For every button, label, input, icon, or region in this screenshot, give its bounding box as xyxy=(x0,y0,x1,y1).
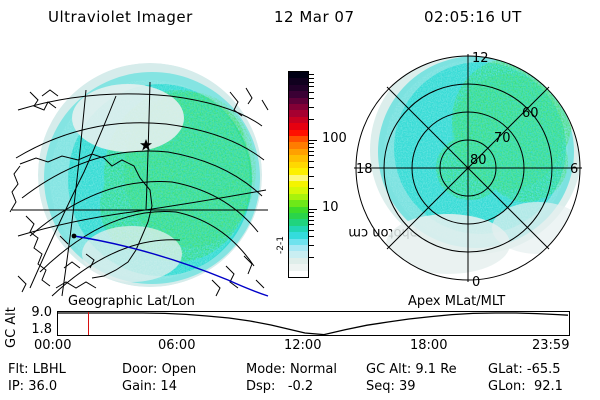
colorbar-minor-tick xyxy=(309,147,314,148)
orbit-xtick-0: 00:00 xyxy=(34,338,71,353)
mlt-label-0: 0 xyxy=(472,275,480,290)
colorbar-minor-tick xyxy=(309,216,314,217)
colorbar-minor-tick xyxy=(309,245,314,246)
status-seq: Seq: 39 xyxy=(366,379,416,394)
status-dsp: Dsp: -0.2 xyxy=(246,379,313,394)
geographic-map-svg xyxy=(0,40,272,298)
colorbar-major-tick-100 xyxy=(309,140,317,141)
orbit-xtick-4: 23:59 xyxy=(532,338,569,353)
current-time-marker xyxy=(88,312,89,335)
observation-time: 02:05:16 UT xyxy=(424,8,522,26)
status-mode: Mode: Normal xyxy=(246,362,337,377)
status-gain: Gain: 14 xyxy=(122,379,177,394)
uvi-display: Ultraviolet Imager 12 Mar 07 02:05:16 UT xyxy=(0,0,600,400)
colorbar-minor-tick xyxy=(309,155,314,156)
observation-date: 12 Mar 07 xyxy=(274,8,355,26)
mlt-spokes xyxy=(354,54,582,282)
orbit-xtick-2: 12:00 xyxy=(284,338,321,353)
cb-unit-exp2: -1 xyxy=(276,236,286,245)
orbit-xtick-3: 18:00 xyxy=(410,338,447,353)
status-ip: IP: 36.0 xyxy=(8,379,57,394)
status-flt: Flt: LBHL xyxy=(8,362,66,377)
colorbar-minor-tick xyxy=(309,161,314,162)
status-door: Door: Open xyxy=(122,362,196,377)
status-block: Flt: LBHL Door: Open Mode: Normal GC Alt… xyxy=(0,362,600,400)
colorbar-minor-tick xyxy=(309,224,314,225)
colorbar-minor-tick xyxy=(309,92,314,93)
mlt-label-18: 18 xyxy=(356,162,373,177)
colorbar-axis-label: photon cm-2s-1 xyxy=(262,112,280,252)
status-glon: GLon: 92.1 xyxy=(488,379,563,394)
page-title: Ultraviolet Imager xyxy=(48,8,193,26)
mlt-label-12: 12 xyxy=(472,51,489,66)
colorbar-band-31 xyxy=(289,271,308,277)
colorbar-minor-tick xyxy=(309,74,314,75)
colorbar-minor-tick xyxy=(309,98,314,99)
colorbar-minor-tick xyxy=(309,236,314,237)
geographic-map-panel[interactable] xyxy=(0,40,272,298)
colorbar-tick-label-10: 10 xyxy=(322,200,339,215)
orbit-ytick-max: 9.0 xyxy=(16,305,52,320)
colorbar-minor-tick xyxy=(309,257,314,258)
colorbar-minor-tick xyxy=(309,220,314,221)
colorbar-minor-tick xyxy=(309,82,314,83)
geographic-pole-marker xyxy=(72,234,77,239)
orbit-caption-left: Geographic Lat/Lon xyxy=(68,294,195,309)
mlat-label-80: 80 xyxy=(470,153,487,168)
apex-polar-svg: 12 18 6 0 60 70 80 xyxy=(330,40,598,302)
colorbar-minor-tick xyxy=(309,78,314,79)
colorbar-minor-tick xyxy=(309,212,314,213)
orbit-altitude-curve xyxy=(58,312,569,335)
colorbar-ticks xyxy=(309,66,319,283)
header-bar: Ultraviolet Imager 12 Mar 07 02:05:16 UT xyxy=(0,8,600,32)
status-glat: GLat: -65.5 xyxy=(488,362,561,377)
mlat-label-60: 60 xyxy=(522,106,539,121)
colorbar-minor-tick xyxy=(309,176,314,177)
colorbar-major-tick-10 xyxy=(309,209,317,210)
orbit-xtick-1: 06:00 xyxy=(158,338,195,353)
colorbar-minor-tick xyxy=(309,107,314,108)
colorbar-minor-tick xyxy=(309,143,314,144)
orbit-caption-right: Apex MLat/MLT xyxy=(408,294,505,309)
orbit-ytick-min: 1.8 xyxy=(16,322,52,337)
colorbar-minor-tick xyxy=(309,119,314,120)
orbit-plot-box xyxy=(57,311,570,336)
colorbar-minor-tick xyxy=(309,151,314,152)
mlat-label-70: 70 xyxy=(494,131,511,146)
mlt-label-6: 6 xyxy=(570,162,578,177)
orbit-altitude-panel[interactable]: GC Alt Geographic Lat/Lon Apex MLat/MLT … xyxy=(0,296,600,352)
status-gcalt: GC Alt: 9.1 Re xyxy=(366,362,457,377)
cb-unit-exp1: -2 xyxy=(276,245,286,254)
colorbar-minor-tick xyxy=(309,230,314,231)
colorbar-minor-tick xyxy=(309,188,314,189)
colorbar-axis-label-text: photon cm-2s-1 xyxy=(276,236,292,254)
colorbar-minor-tick xyxy=(309,167,314,168)
colorbar-minor-tick xyxy=(309,86,314,87)
apex-magnetic-panel[interactable]: 12 18 6 0 60 70 80 xyxy=(330,40,598,302)
colorbar-tick-label-100: 100 xyxy=(322,131,347,146)
